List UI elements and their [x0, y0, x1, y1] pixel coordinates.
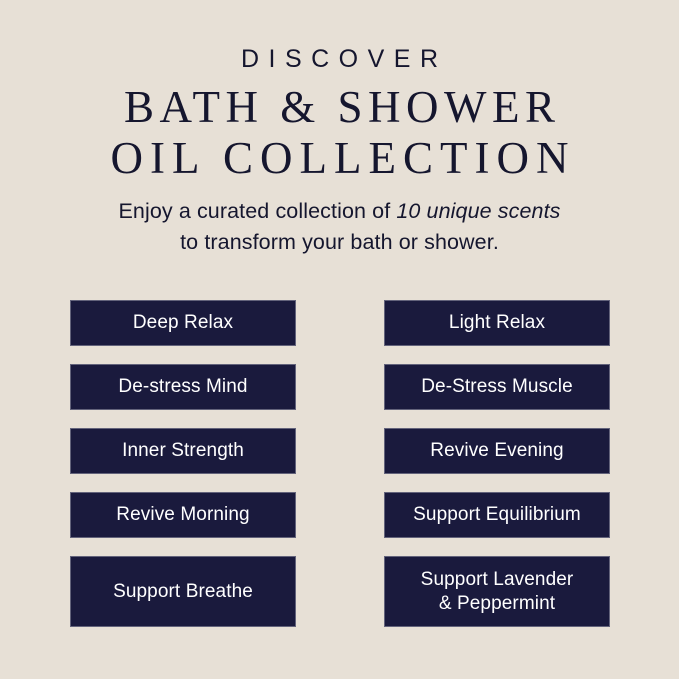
scent-button-deep-relax[interactable]: Deep Relax: [70, 300, 296, 346]
scent-column-right: Light Relax De-Stress Muscle Revive Even…: [384, 300, 610, 627]
scent-button-grid: Deep Relax De-stress Mind Inner Strength…: [70, 300, 609, 623]
subtitle-line-1: Enjoy a curated collection of 10 unique …: [0, 196, 679, 227]
subtitle-emphasis-scent-count: 10 unique scents: [396, 199, 560, 223]
scent-button-light-relax[interactable]: Light Relax: [384, 300, 610, 346]
scent-button-support-lavender-peppermint[interactable]: Support Lavender & Peppermint: [384, 556, 610, 627]
subtitle-line-2: to transform your bath or shower.: [0, 227, 679, 258]
scent-button-revive-evening[interactable]: Revive Evening: [384, 428, 610, 474]
scent-button-revive-morning[interactable]: Revive Morning: [70, 492, 296, 538]
scent-column-left: Deep Relax De-stress Mind Inner Strength…: [70, 300, 296, 627]
scent-button-support-breathe[interactable]: Support Breathe: [70, 556, 296, 627]
headline-line-1: BATH & SHOWER: [0, 82, 679, 132]
page-title: BATH & SHOWER OIL COLLECTION: [0, 72, 679, 183]
scent-button-support-equilibrium[interactable]: Support Equilibrium: [384, 492, 610, 538]
eyebrow-discover: DISCOVER: [0, 0, 679, 72]
scent-button-inner-strength[interactable]: Inner Strength: [70, 428, 296, 474]
scent-button-label-line-1: Support Lavender: [421, 568, 574, 591]
bath-shower-oil-collection-poster: DISCOVER BATH & SHOWER OIL COLLECTION En…: [0, 0, 679, 679]
subtitle-prefix: Enjoy a curated collection of: [118, 199, 396, 223]
subtitle: Enjoy a curated collection of 10 unique …: [0, 183, 679, 257]
scent-button-de-stress-mind[interactable]: De-stress Mind: [70, 364, 296, 410]
scent-button-de-stress-muscle[interactable]: De-Stress Muscle: [384, 364, 610, 410]
headline-line-2: OIL COLLECTION: [0, 133, 679, 183]
poster-header: DISCOVER BATH & SHOWER OIL COLLECTION En…: [0, 0, 679, 257]
scent-button-label-line-2: & Peppermint: [421, 592, 574, 615]
